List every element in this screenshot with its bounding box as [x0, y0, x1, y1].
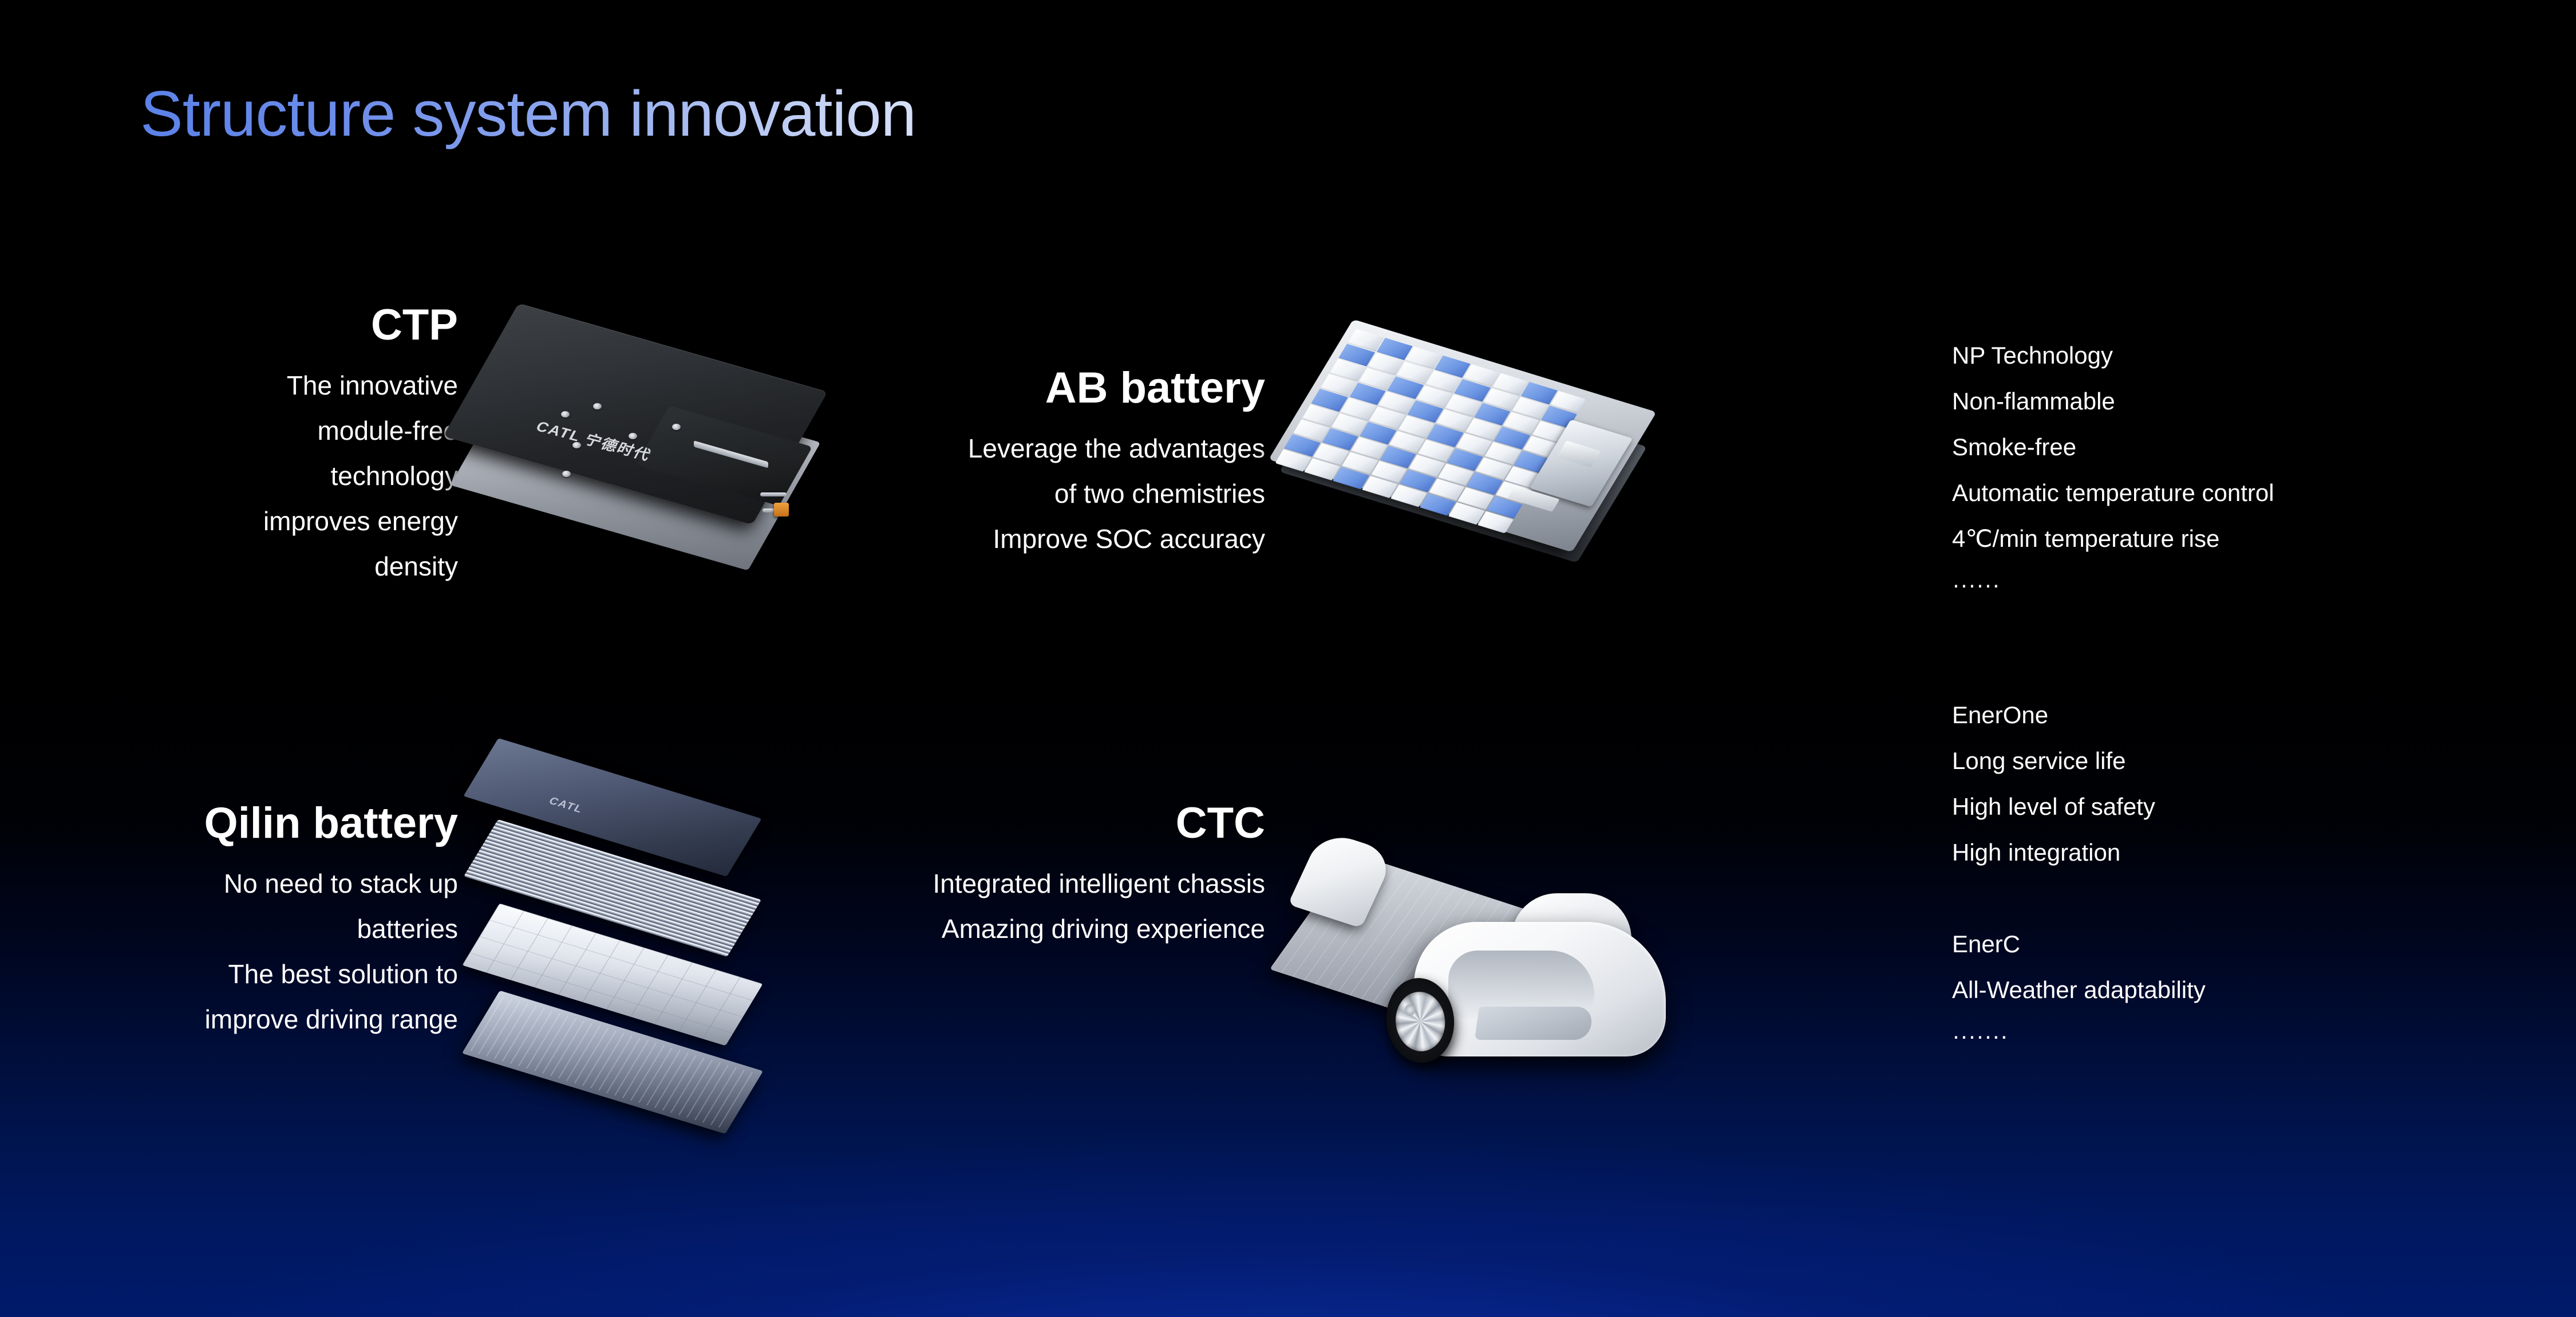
feature-item: High level of safety [1952, 795, 2206, 819]
qilin-battery-exploded-image: CATL [481, 773, 801, 1128]
ctp-heading: CTP [263, 303, 458, 347]
ctp-bolt [629, 433, 637, 439]
feature-item: NP Technology [1952, 344, 2274, 368]
ctp-bolt [672, 424, 681, 430]
ctc-wheel-rim [1393, 989, 1448, 1054]
feature-item: Non-flammable [1952, 389, 2274, 413]
ctc-chassis-car-image: CATL [1305, 825, 1694, 1111]
ctp-bolt [593, 403, 602, 409]
ctp-line-2: module-free [263, 417, 458, 444]
feature-item: All-Weather adaptability [1952, 978, 2206, 1002]
ab-battery-line-2: of two chemistries [968, 480, 1265, 507]
qilin-battery-line-4: improve driving range [204, 1006, 458, 1032]
qilin-battery-line-3: The best solution to [204, 961, 458, 987]
ab-battery-heading: AB battery [968, 366, 1265, 410]
qilin-battery-text-block: Qilin battery No need to stack up batter… [204, 802, 458, 1051]
feature-list-enerone-enerc: EnerOne Long service life High level of … [1952, 703, 2206, 1070]
feature-item: Long service life [1952, 749, 2206, 773]
ctp-bolt [561, 411, 570, 417]
feature-item-spacer [1952, 886, 2206, 910]
ctp-battery-pack-image: CATL 宁德时代 [481, 321, 819, 550]
ab-battery-text-block: AB battery Leverage the advantages of tw… [968, 366, 1265, 571]
ab-battery-line-3: Improve SOC accuracy [968, 526, 1265, 552]
ctp-terminal-pin-1 [760, 492, 787, 496]
feature-item: 4℃/min temperature rise [1952, 527, 2274, 551]
ctc-headlamp [1475, 1007, 1594, 1040]
ctp-line-1: The innovative [263, 372, 458, 399]
ab-battery-line-1: Leverage the advantages [968, 435, 1265, 462]
ctp-line-3: technology [263, 463, 458, 489]
ab-battery-pack-image [1311, 326, 1654, 567]
feature-item: High integration [1952, 841, 2206, 865]
ctp-bolt [562, 471, 571, 477]
qilin-battery-line-2: batteries [204, 916, 458, 942]
ctc-line-1: Integrated intelligent chassis [933, 870, 1265, 897]
feature-item: Automatic temperature control [1952, 481, 2274, 505]
qilin-battery-line-1: No need to stack up [204, 870, 458, 897]
feature-item: Smoke-free [1952, 435, 2274, 459]
ctc-text-block: CTC Integrated intelligent chassis Amazi… [933, 802, 1265, 961]
ctp-text-block: CTP The innovative module-free technolog… [263, 303, 458, 598]
page-title: Structure system innovation [140, 77, 916, 151]
feature-item-ellipsis: ······· [1952, 1024, 2206, 1048]
feature-item-ellipsis: ······ [1952, 573, 2274, 597]
ctp-orange-connector [774, 503, 789, 516]
ctp-line-5: density [263, 553, 458, 579]
feature-list-np-technology: NP Technology Non-flammable Smoke-free A… [1952, 344, 2274, 618]
ctc-heading: CTC [933, 802, 1265, 845]
ctc-line-2: Amazing driving experience [933, 916, 1265, 942]
feature-item: EnerOne [1952, 703, 2206, 727]
feature-item: EnerC [1952, 932, 2206, 956]
ctp-line-4: improves energy [263, 508, 458, 534]
slide-stage: Structure system innovation CTP The inno… [0, 0, 2576, 1317]
qilin-battery-heading: Qilin battery [204, 802, 458, 845]
